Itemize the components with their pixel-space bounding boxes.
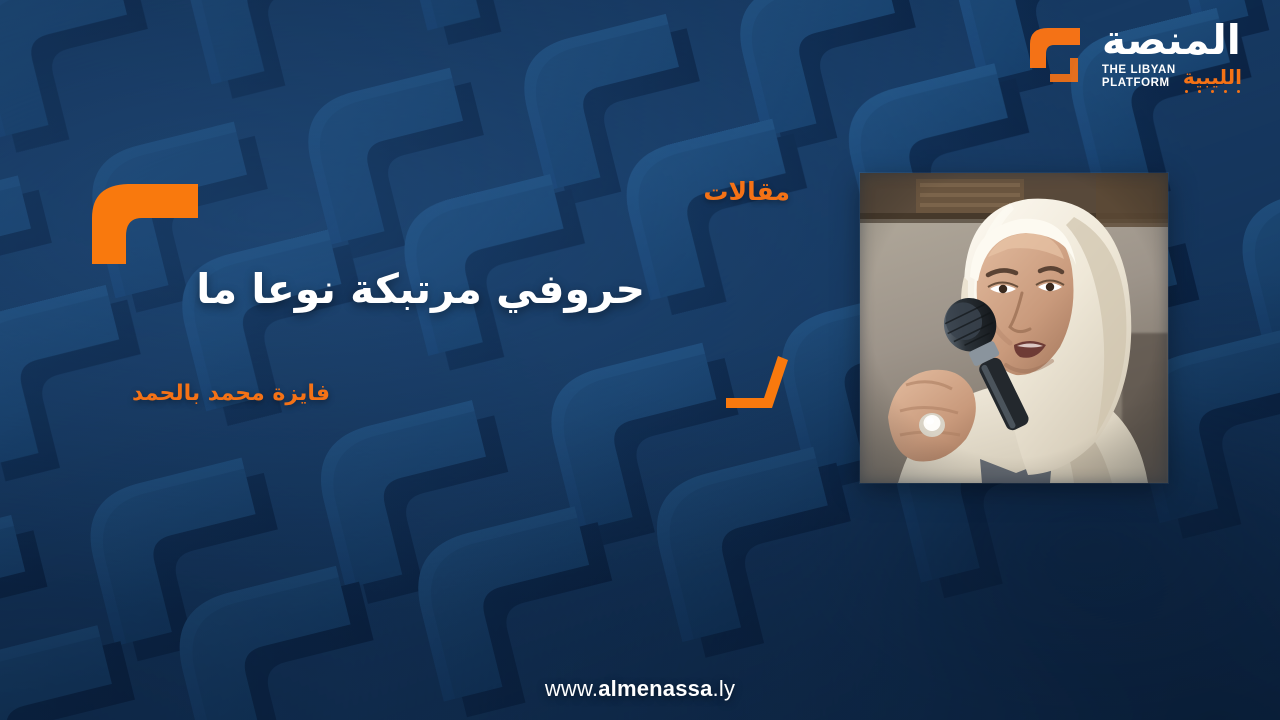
logo-arabic-main-row: المنصة (1102, 20, 1241, 61)
almenassa-hook-mark-icon (1024, 24, 1092, 86)
logo-arabic-sub-wrap: الليبية (1183, 67, 1242, 87)
logo-arabic-sub: الليبية (1183, 65, 1242, 89)
article-card: المنصة الليبية THE LIBYAN PLATFORM (0, 0, 1280, 720)
logo-english-line1: THE LIBYAN (1102, 64, 1176, 77)
logo-secondary-row: الليبية THE LIBYAN PLATFORM (1102, 64, 1242, 90)
logo-english-line2: PLATFORM (1102, 77, 1170, 90)
site-logo[interactable]: المنصة الليبية THE LIBYAN PLATFORM (1024, 20, 1242, 90)
logo-english-block: THE LIBYAN PLATFORM (1102, 64, 1176, 90)
logo-arabic-main: المنصة (1102, 20, 1241, 61)
article-headline: حروفي مرتبكة نوعا ما (196, 265, 645, 313)
author-photo (860, 173, 1168, 483)
logo-text-block: المنصة الليبية THE LIBYAN PLATFORM (1102, 20, 1242, 90)
article-author-name: فايزة محمد بالحمد (132, 381, 330, 406)
logo-dot-row (1185, 90, 1240, 93)
site-url-brand: almenassa (598, 676, 712, 701)
article-category-label[interactable]: مقالات (703, 177, 790, 206)
orange-hook-shape-small-icon (724, 354, 790, 410)
orange-hook-shape-large-icon (90, 182, 200, 264)
footer: www.almenassa.ly (0, 676, 1280, 702)
site-url[interactable]: www.almenassa.ly (545, 676, 735, 702)
site-url-prefix: www. (545, 676, 598, 701)
site-url-suffix: .ly (713, 676, 736, 701)
